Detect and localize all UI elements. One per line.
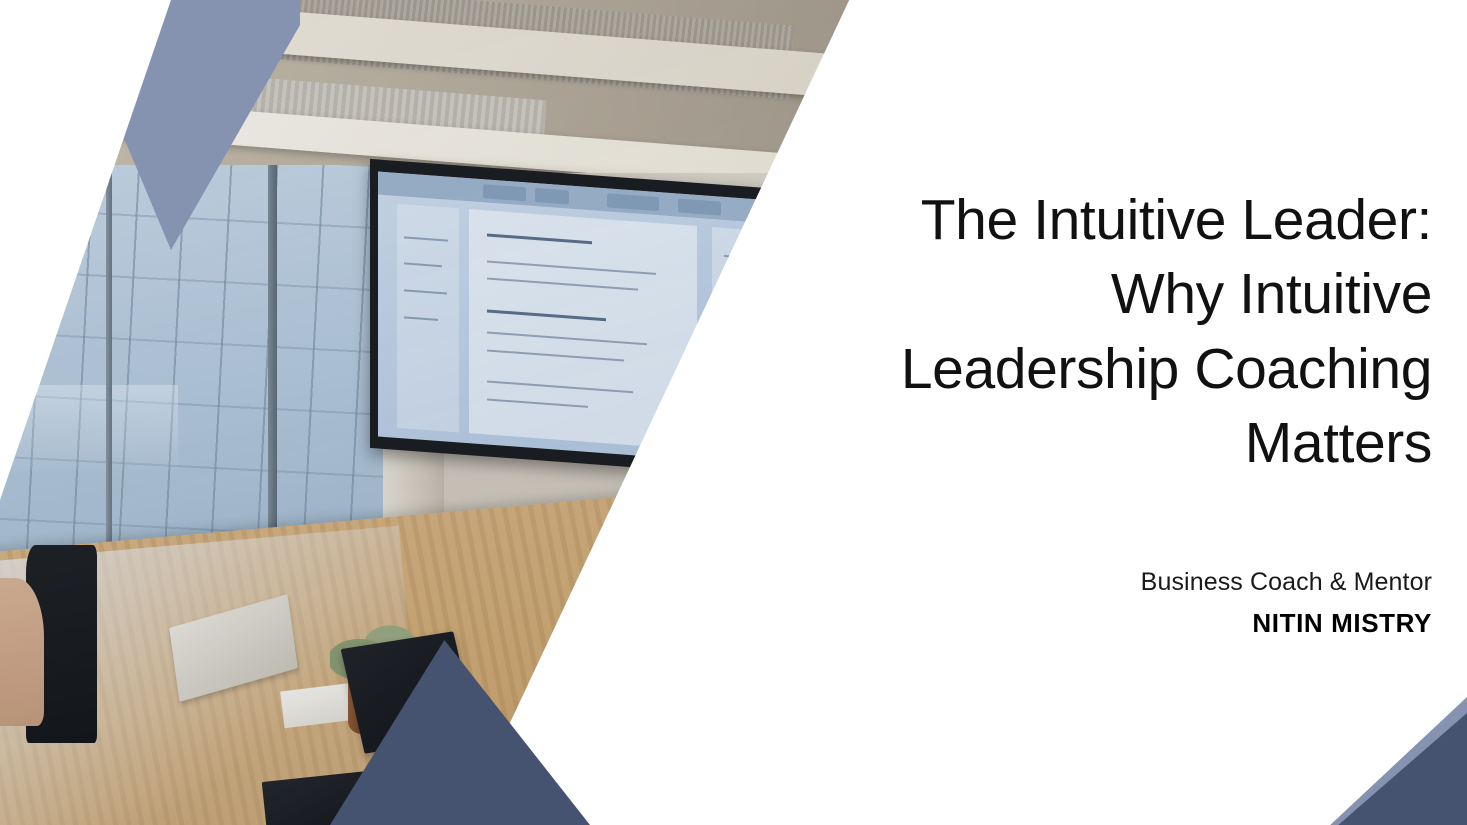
slide-text-panel: The Intuitive Leader: Why Intuitive Lead…: [832, 0, 1432, 825]
byline-role: Business Coach & Mentor: [1141, 564, 1432, 602]
byline-name: NITIN MISTRY: [1141, 605, 1432, 641]
presentation-slide: The Intuitive Leader: Why Intuitive Lead…: [0, 0, 1467, 825]
slide-title: The Intuitive Leader: Why Intuitive Lead…: [901, 183, 1432, 479]
screen-right-panel: [711, 228, 835, 460]
byline: Business Coach & Mentor NITIN MISTRY: [1141, 564, 1432, 642]
